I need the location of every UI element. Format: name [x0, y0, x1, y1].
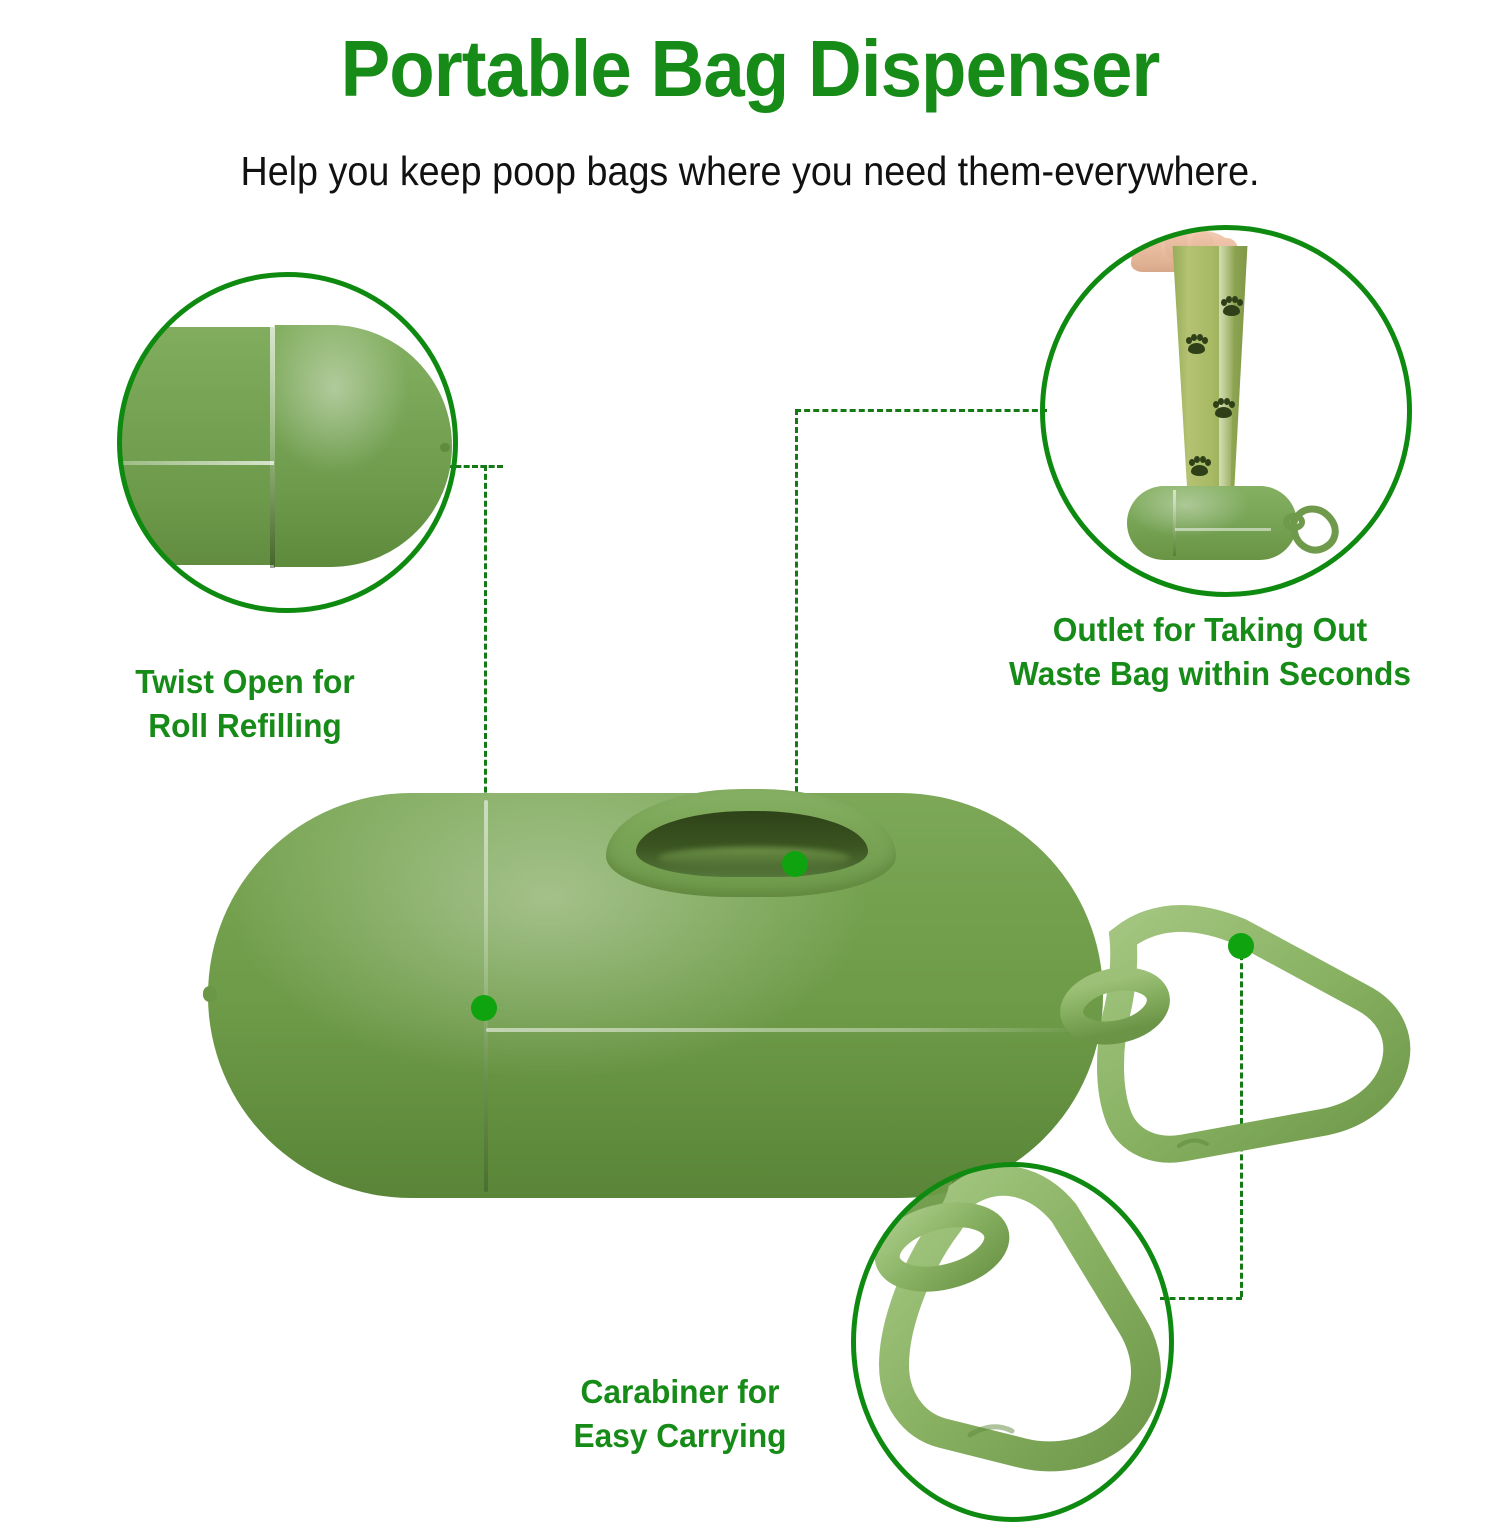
- dispenser-part-line: [486, 1028, 1086, 1032]
- caption-outlet-line2: Waste Bag within Seconds: [951, 652, 1469, 696]
- leader-line-outlet-horizontal: [795, 409, 1047, 412]
- caption-outlet-line1: Outlet for Taking Out: [951, 608, 1469, 652]
- infographic-canvas: Portable Bag Dispenser Help you keep poo…: [0, 0, 1500, 1500]
- dispenser-end-nub: [203, 986, 217, 1002]
- caption-carabiner: Carabiner for Easy Carrying: [421, 1370, 939, 1458]
- callout-ring-outlet: [1040, 225, 1412, 597]
- page-subtitle: Help you keep poop bags where you need t…: [60, 146, 1440, 196]
- callout-ring-twist: [117, 272, 458, 613]
- caption-outlet: Outlet for Taking Out Waste Bag within S…: [951, 608, 1469, 696]
- caption-twist-line1: Twist Open for: [48, 660, 442, 704]
- caption-carabiner-line1: Carabiner for: [421, 1370, 939, 1414]
- caption-twist-line2: Roll Refilling: [48, 704, 442, 748]
- caption-twist-open: Twist Open for Roll Refilling: [48, 660, 442, 748]
- callout-dot-twist: [471, 995, 497, 1021]
- callout-ring-carabiner: [851, 1162, 1174, 1522]
- callout-dot-carabiner: [1228, 933, 1254, 959]
- outlet-shine: [658, 847, 850, 869]
- carabiner-loop: [1111, 919, 1397, 1150]
- dispenser-outlet-collar: [606, 789, 896, 897]
- page-title: Portable Bag Dispenser: [53, 26, 1448, 112]
- callout-dot-outlet: [782, 851, 808, 877]
- leader-line-carabiner-horizontal: [1160, 1297, 1242, 1300]
- caption-carabiner-line2: Easy Carrying: [421, 1414, 939, 1458]
